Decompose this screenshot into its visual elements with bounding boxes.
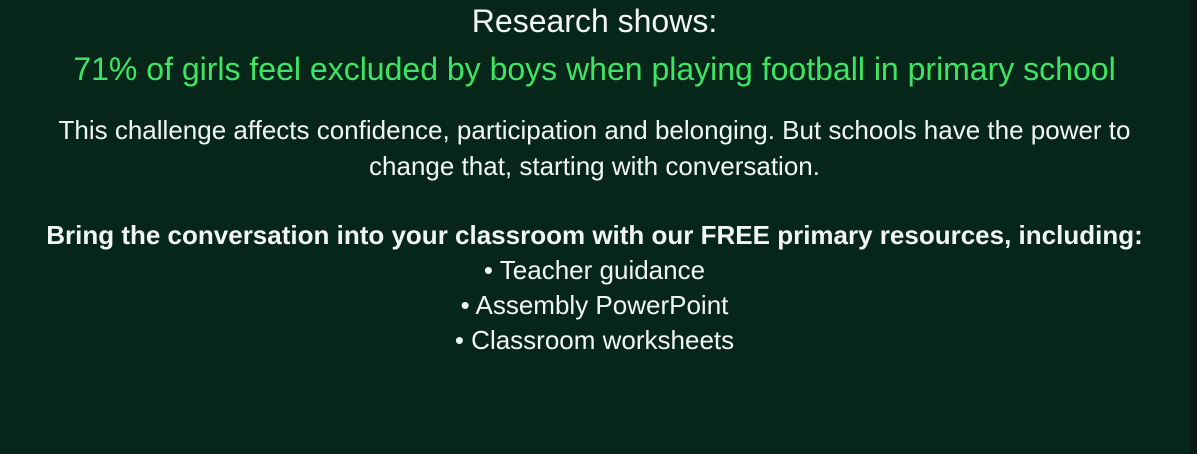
list-item: • Classroom worksheets bbox=[0, 323, 1189, 358]
list-item-label: Teacher guidance bbox=[500, 255, 705, 285]
promo-content-stack: Research shows: 71% of girls feel exclud… bbox=[0, 0, 1189, 358]
statistic-headline: 71% of girls feel excluded by boys when … bbox=[0, 45, 1189, 94]
bullet-icon: • bbox=[461, 290, 470, 320]
list-item-label: Classroom worksheets bbox=[471, 325, 734, 355]
list-item: • Assembly PowerPoint bbox=[0, 288, 1189, 323]
list-item: • Teacher guidance bbox=[0, 253, 1189, 288]
list-item-label: Assembly PowerPoint bbox=[476, 290, 729, 320]
cta-heading: Bring the conversation into your classro… bbox=[0, 217, 1189, 253]
promo-banner: Research shows: 71% of girls feel exclud… bbox=[0, 0, 1197, 454]
resource-bullet-list: • Teacher guidance • Assembly PowerPoint… bbox=[0, 253, 1189, 358]
eyebrow-heading: Research shows: bbox=[0, 0, 1189, 45]
body-paragraph: This challenge affects confidence, parti… bbox=[0, 112, 1189, 184]
right-edge-strip bbox=[1189, 0, 1197, 454]
bullet-icon: • bbox=[455, 325, 464, 355]
bullet-icon: • bbox=[484, 255, 493, 285]
